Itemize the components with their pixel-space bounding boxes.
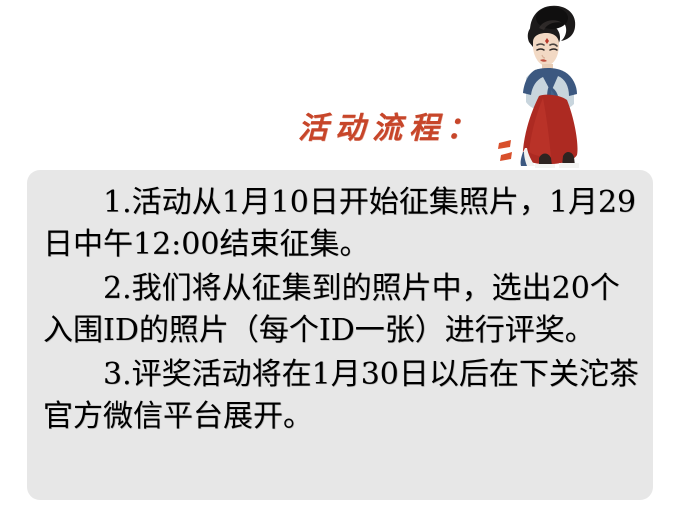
spark-icon (498, 139, 516, 167)
list-item: 2.我们将从征集到的照片中，选出20个入围ID的照片（每个ID一张）进行评奖。 (43, 268, 639, 352)
list-item: 3.评奖活动将在1月30日以后在下关沱茶官方微信平台展开。 (43, 354, 639, 438)
content-panel: 1.活动从1月10日开始征集照片，1月29日中午12:00结束征集。 2.我们将… (27, 170, 653, 500)
content-panel-inner: 1.活动从1月10日开始征集照片，1月29日中午12:00结束征集。 2.我们将… (27, 170, 653, 438)
page-title: 活动流程： (298, 114, 483, 144)
list-item: 1.活动从1月10日开始征集照片，1月29日中午12:00结束征集。 (43, 182, 639, 266)
slide-canvas: 活动流程： 1.活动从1月10日开始征集照片，1月29日中午12:00结束征集。… (0, 0, 680, 529)
